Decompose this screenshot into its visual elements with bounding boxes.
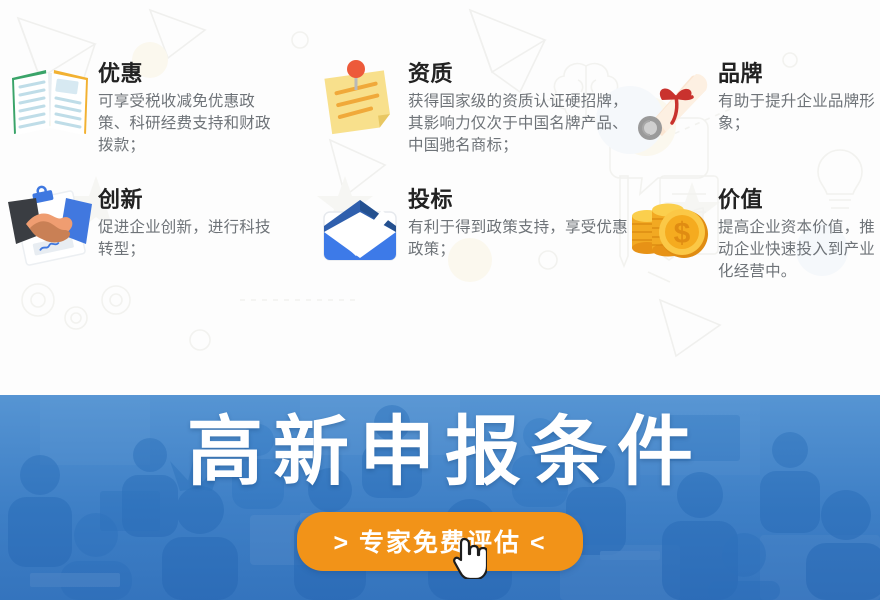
feature-text: 投标 有利于得到政策支持，享受优惠政策；	[408, 182, 628, 261]
feature-title: 优惠	[98, 60, 276, 88]
feature-text: 创新 促进企业创新，进行科技转型；	[98, 182, 276, 261]
feature-description: 有助于提升企业品牌形象；	[718, 91, 878, 136]
feature-item-zizhi: 资质 获得国家级的资质认证硬招牌，其影响力仅次于中国名牌产品、中国驰名商标；	[316, 56, 628, 158]
feature-description: 提高企业资本价值，推动企业快速投入到产业化经营中。	[718, 217, 878, 284]
feature-description: 促进企业创新，进行科技转型；	[98, 217, 276, 262]
svg-text:$: $	[674, 217, 691, 250]
gold-coins-icon: $	[626, 182, 714, 270]
banner-title: 高新申报条件	[177, 414, 703, 490]
feature-text: 资质 获得国家级的资质认证硬招牌，其影响力仅次于中国名牌产品、中国驰名商标；	[408, 56, 628, 158]
feature-description: 有利于得到政策支持，享受优惠政策；	[408, 217, 628, 262]
open-book-icon	[6, 56, 94, 144]
feature-description: 获得国家级的资质认证硬招牌，其影响力仅次于中国名牌产品、中国驰名商标；	[408, 91, 628, 158]
diploma-scroll-icon	[626, 56, 714, 144]
features-section: 优惠 可享受税收减免优惠政策、科研经费支持和财政拨款；	[0, 0, 880, 395]
promo-page: 优惠 可享受税收减免优惠政策、科研经费支持和财政拨款；	[0, 0, 880, 600]
free-expert-evaluation-button[interactable]: > 专家免费评估 <	[297, 512, 582, 571]
features-grid: 优惠 可享受税收减免优惠政策、科研经费支持和财政拨款；	[0, 0, 880, 395]
feature-text: 品牌 有助于提升企业品牌形象；	[718, 56, 878, 135]
feature-item-youhui: 优惠 可享受税收减免优惠政策、科研经费支持和财政拨款；	[6, 56, 276, 158]
cta-banner: 高新申报条件 > 专家免费评估 <	[0, 395, 880, 600]
feature-title: 资质	[408, 60, 628, 88]
feature-description: 可享受税收减免优惠政策、科研经费支持和财政拨款；	[98, 91, 276, 158]
feature-item-toubiao: 投标 有利于得到政策支持，享受优惠政策；	[316, 182, 628, 270]
feature-title: 创新	[98, 186, 276, 214]
feature-item-chuangxin: 创新 促进企业创新，进行科技转型；	[6, 182, 276, 270]
cta-wrapper: > 专家免费评估 <	[297, 512, 582, 571]
feature-item-pinpai: 品牌 有助于提升企业品牌形象；	[626, 56, 878, 144]
banner-content: 高新申报条件 > 专家免费评估 <	[0, 395, 880, 600]
sticky-note-pin-icon	[316, 56, 404, 144]
feature-item-jiazhi: $ 价值 提高企业资本价值，推动企业快速投入到产业化经营中。	[626, 182, 878, 284]
handshake-contract-icon	[6, 182, 94, 270]
feature-title: 投标	[408, 186, 628, 214]
feature-text: 价值 提高企业资本价值，推动企业快速投入到产业化经营中。	[718, 182, 878, 284]
feature-title: 品牌	[718, 60, 878, 88]
feature-title: 价值	[718, 186, 878, 214]
envelope-check-icon	[316, 182, 404, 270]
feature-text: 优惠 可享受税收减免优惠政策、科研经费支持和财政拨款；	[98, 56, 276, 158]
